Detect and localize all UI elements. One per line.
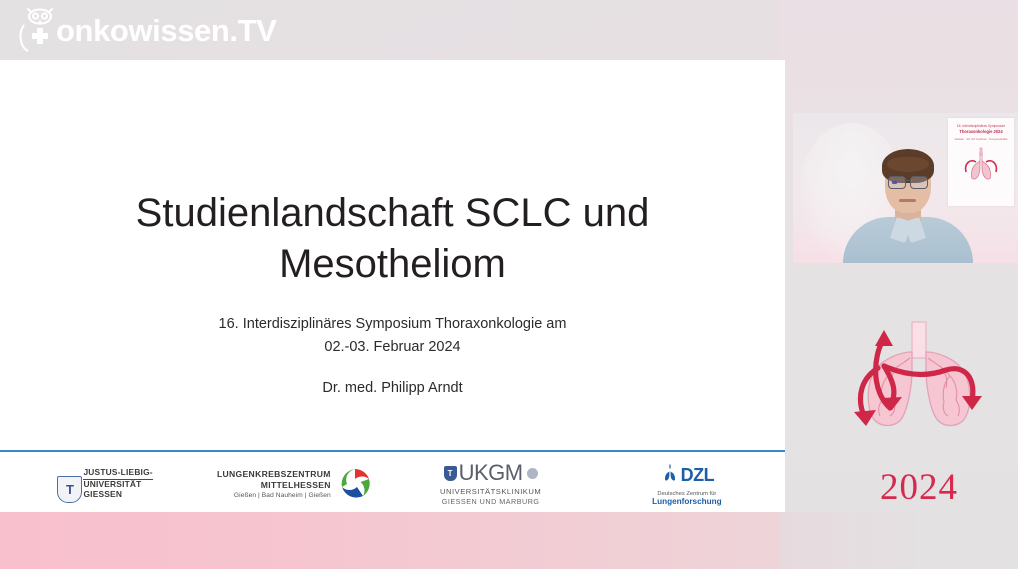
slide-divider [0, 450, 785, 452]
jlu-line3: GIESSEN [83, 490, 152, 500]
logo-lungenkrebszentrum-mittelhessen: LUNGENKREBSZENTRUM MITTELHESSEN Gießen |… [196, 467, 392, 501]
brand-wordmark: onkowissen.TV [56, 15, 276, 46]
dzl-line2: Lungenforschung [652, 497, 722, 506]
presentation-slide: Studienlandschaft SCLC und Mesotheliom 1… [0, 60, 785, 512]
slide-logo-row: T JUSTUS-LIEBIG- UNIVERSITÄT GIESSEN LUN… [0, 456, 785, 512]
lkz-line2: MITTELHESSEN [217, 480, 331, 491]
speaker-glasses-icon [888, 176, 928, 187]
logo-dzl: DZL Deutsches Zentrum für Lungenforschun… [589, 463, 785, 506]
tricolor-pinwheel-icon [338, 467, 372, 501]
ukgm-wordmark-row: T UKGM [440, 462, 541, 484]
lkz-line1: LUNGENKREBSZENTRUM [217, 469, 331, 480]
slide-subtitle: 16. Interdisziplinäres Symposium Thoraxo… [0, 313, 785, 359]
speaker-hair-fringe [887, 157, 929, 172]
slide-speaker-name: Dr. med. Philipp Arndt [0, 380, 785, 396]
lung-emblem-graphic [820, 300, 1018, 475]
owl-with-cross-icon [14, 7, 66, 53]
logo-justus-liebig-universitaet: T JUSTUS-LIEBIG- UNIVERSITÄT GIESSEN [0, 468, 196, 500]
glasses-lens-right [910, 176, 928, 189]
speaker-mouth [899, 199, 916, 202]
dzl-wordmark-row: DZL [652, 463, 722, 488]
lkz-text-block: LUNGENKREBSZENTRUM MITTELHESSEN Gießen |… [217, 469, 331, 499]
lkz-logo-group: LUNGENKREBSZENTRUM MITTELHESSEN Gießen |… [217, 467, 372, 501]
ukgm-seal-icon [527, 468, 538, 479]
ukgm-line1: UNIVERSITÄTSKLINIKUM [440, 487, 541, 496]
logo-ukgm: T UKGM UNIVERSITÄTSKLINIKUM GIESSEN UND … [393, 462, 589, 506]
jlu-text-block: JUSTUS-LIEBIG- UNIVERSITÄT GIESSEN [43, 468, 152, 500]
bottom-strip-right-fade [780, 512, 1018, 569]
slide-subtitle-line2: 02.-03. Februar 2024 [0, 336, 785, 359]
emblem-year-label: 2024 [820, 469, 1018, 506]
jlu-logo-group: T JUSTUS-LIEBIG- UNIVERSITÄT GIESSEN [43, 468, 152, 500]
header-bar: onkowissen.TV [0, 0, 1018, 60]
glasses-lens-left [888, 176, 906, 189]
dzl-wordmark: DZL [681, 466, 715, 484]
dzl-logo-group: DZL Deutsches Zentrum für Lungenforschun… [652, 463, 722, 506]
blue-lung-icon [660, 463, 680, 488]
slide-subtitle-line1: 16. Interdisziplinäres Symposium Thoraxo… [0, 313, 785, 336]
dzl-line1: Deutsches Zentrum für [652, 491, 722, 497]
ukgm-shield-icon: T [444, 466, 457, 481]
brand-logo[interactable]: onkowissen.TV [14, 7, 276, 53]
speaker-figure [843, 127, 973, 263]
ukgm-wordmark: UKGM [459, 462, 523, 484]
glasses-glint [892, 181, 897, 184]
symposium-lung-emblem: 2024 [820, 300, 1018, 520]
speaker-video-tile[interactable]: 16. Interdisziplinäres Symposium Thoraxo… [793, 113, 1018, 263]
ukgm-line2: GIESSEN UND MARBURG [440, 497, 541, 506]
ukgm-logo-group: T UKGM UNIVERSITÄTSKLINIKUM GIESSEN UND … [440, 462, 541, 506]
lkz-line3: Gießen | Bad Nauheim | Gießen [217, 492, 331, 499]
slide-title: Studienlandschaft SCLC und Mesotheliom [0, 188, 785, 290]
screen: onkowissen.TV Studienlandschaft SCLC und… [0, 0, 1018, 569]
